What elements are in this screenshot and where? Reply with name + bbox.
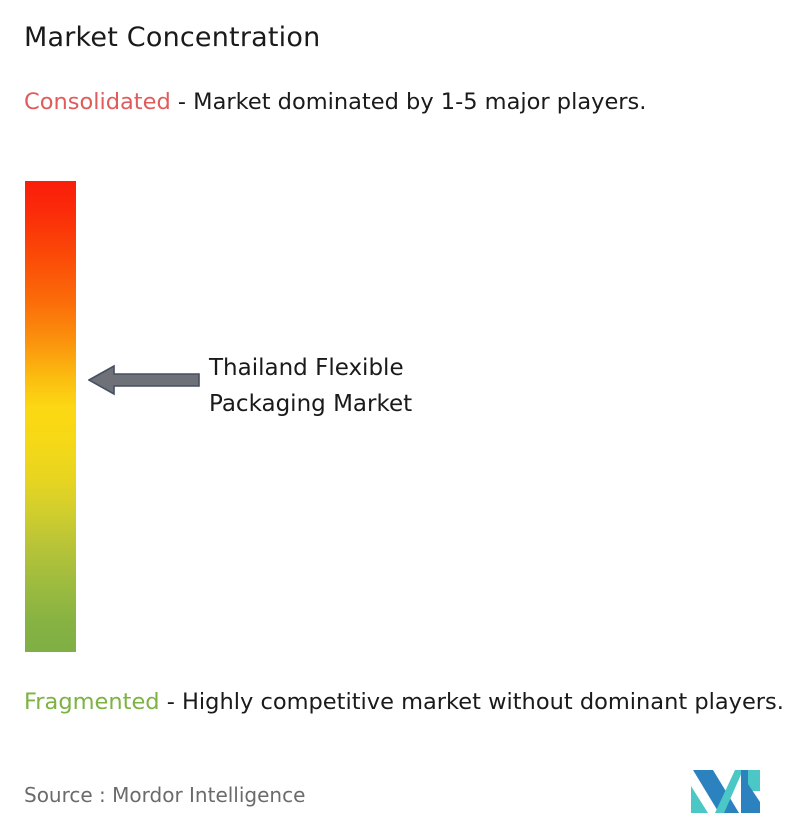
market-position-arrow (88, 361, 200, 399)
source-value: Mordor Intelligence (112, 783, 305, 807)
page-title: Market Concentration (24, 22, 320, 53)
market-position-label-line2: Packaging Market (209, 386, 539, 422)
source-line: Source : Mordor Intelligence (24, 783, 305, 807)
market-position-label: Thailand Flexible Packaging Market (209, 350, 539, 422)
consolidated-description: Consolidated - Market dominated by 1-5 m… (24, 86, 776, 118)
concentration-gradient-bar (25, 181, 76, 652)
fragmented-description: Fragmented - Highly competitive market w… (24, 686, 788, 718)
mordor-intelligence-logo-icon (691, 769, 761, 814)
market-position-label-line1: Thailand Flexible (209, 350, 539, 386)
consolidated-keyword: Consolidated (24, 89, 171, 115)
source-label: Source : (24, 783, 106, 807)
fragmented-description-text: - Highly competitive market without domi… (160, 689, 784, 715)
fragmented-keyword: Fragmented (24, 689, 160, 715)
consolidated-description-text: - Market dominated by 1-5 major players. (171, 89, 647, 115)
